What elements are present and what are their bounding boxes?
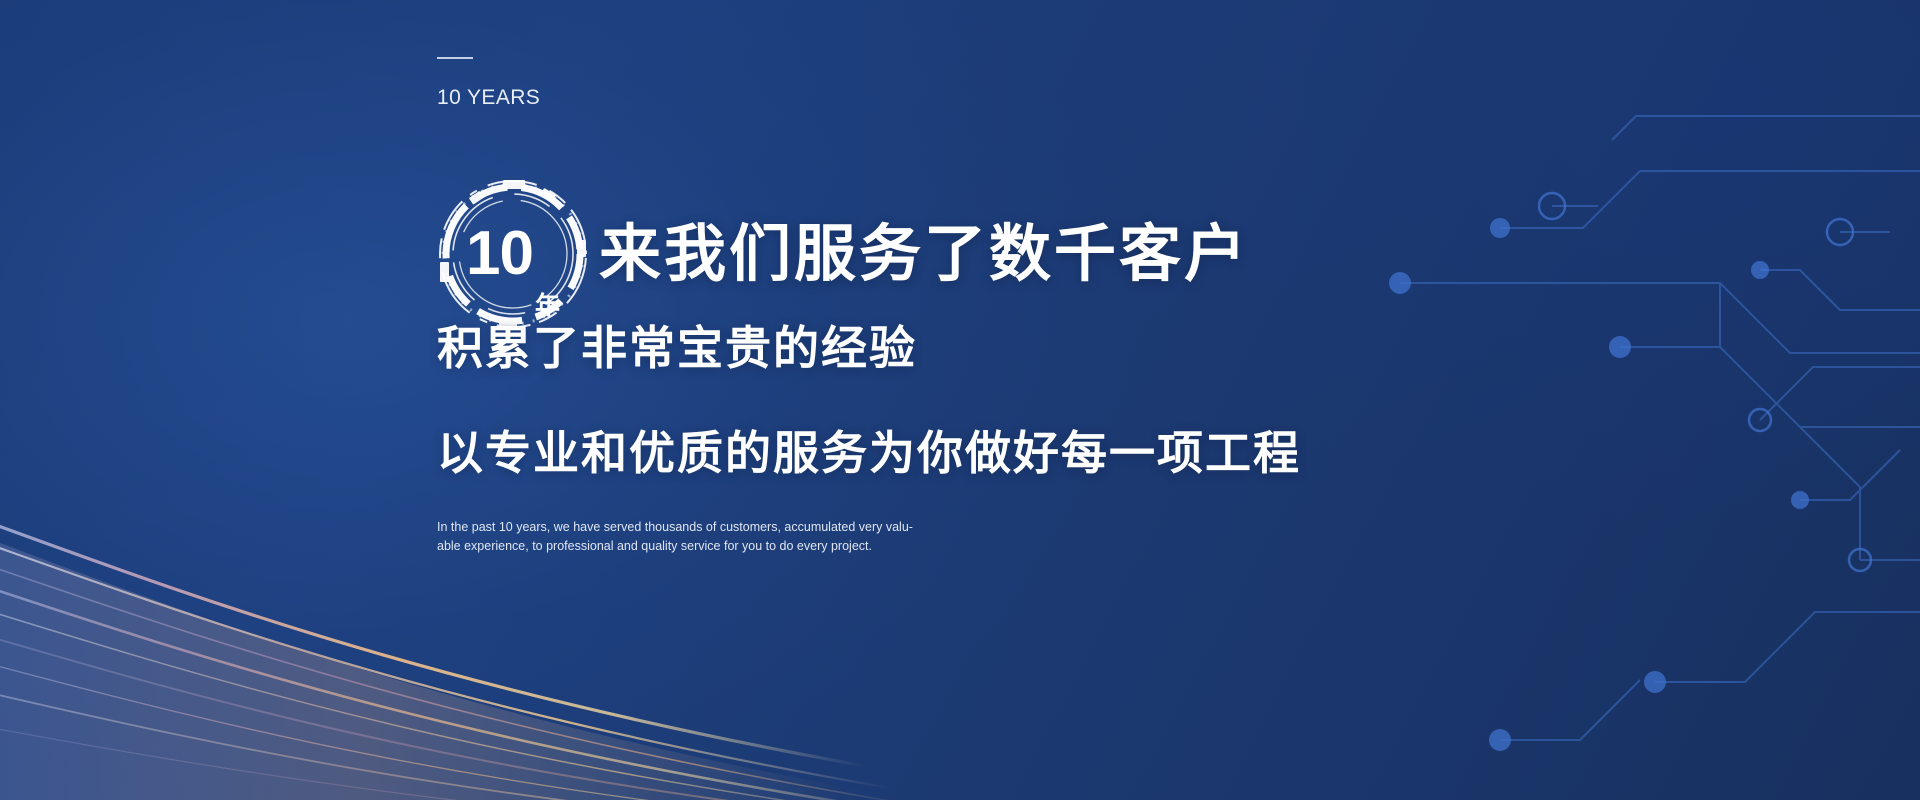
subline-one: 积累了非常宝贵的经验 — [437, 325, 917, 371]
promo-banner: 10 YEARS — [0, 0, 1920, 800]
badge-unit: 年 — [535, 293, 560, 318]
eyebrow-divider — [437, 57, 473, 59]
paragraph-line-2: able experience, to professional and qua… — [437, 537, 867, 556]
ten-years-badge: 10 年 — [437, 178, 589, 330]
badge-number: 10 — [466, 223, 533, 285]
english-paragraph: In the past 10 years, we have served tho… — [437, 518, 867, 557]
badge-text: 10 年 — [437, 178, 589, 330]
banner-content: 10 YEARS — [437, 0, 1537, 800]
paragraph-line-1: In the past 10 years, we have served tho… — [437, 518, 867, 537]
headline: 来我们服务了数千客户 — [599, 223, 1249, 285]
headline-row: 10 年 来我们服务了数千客户 — [437, 178, 1249, 330]
subline-two: 以专业和优质的服务为你做好每一项工程 — [437, 430, 1301, 476]
eyebrow-label: 10 YEARS — [437, 86, 540, 110]
